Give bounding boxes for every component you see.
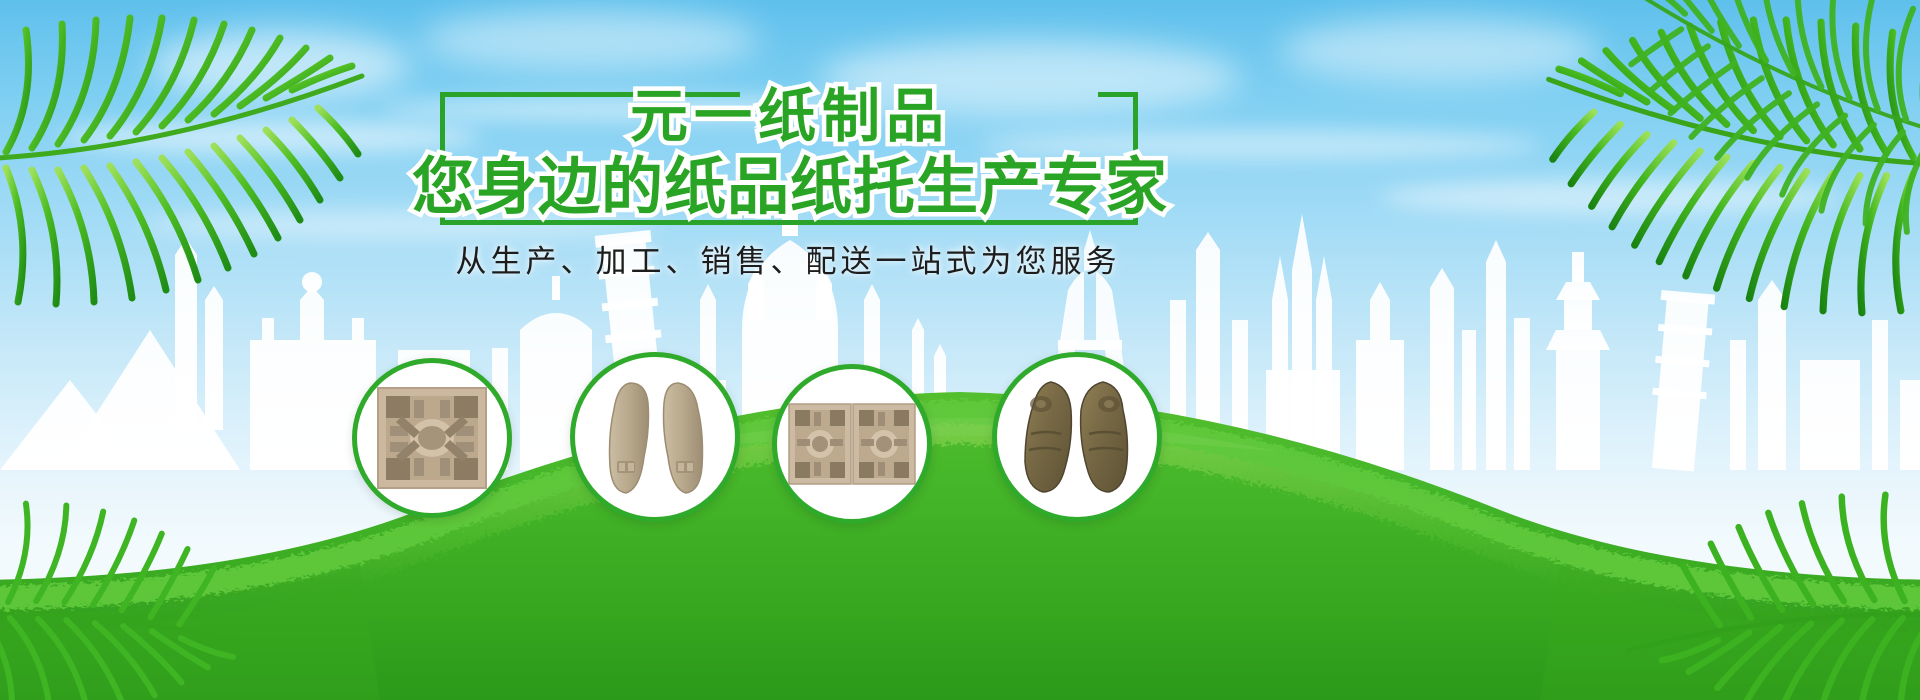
shoe-form-icon bbox=[1019, 376, 1135, 498]
promotional-banner: 元一纸制品 您身边的纸品纸托生产专家 从生产、加工、销售、配送一站式为您服务 bbox=[0, 0, 1920, 700]
product-circle-shoe-inserts[interactable] bbox=[570, 352, 740, 522]
product-circle-group bbox=[0, 0, 1920, 700]
pulp-double-tray-icon bbox=[788, 403, 916, 485]
pulp-tray-icon bbox=[376, 386, 488, 490]
product-circle-pulp-tray-square[interactable] bbox=[352, 358, 512, 518]
product-circle-shoe-forms[interactable] bbox=[992, 352, 1162, 522]
shoe-insert-icon bbox=[600, 373, 710, 501]
product-circle-pulp-tray-double[interactable] bbox=[772, 364, 932, 524]
